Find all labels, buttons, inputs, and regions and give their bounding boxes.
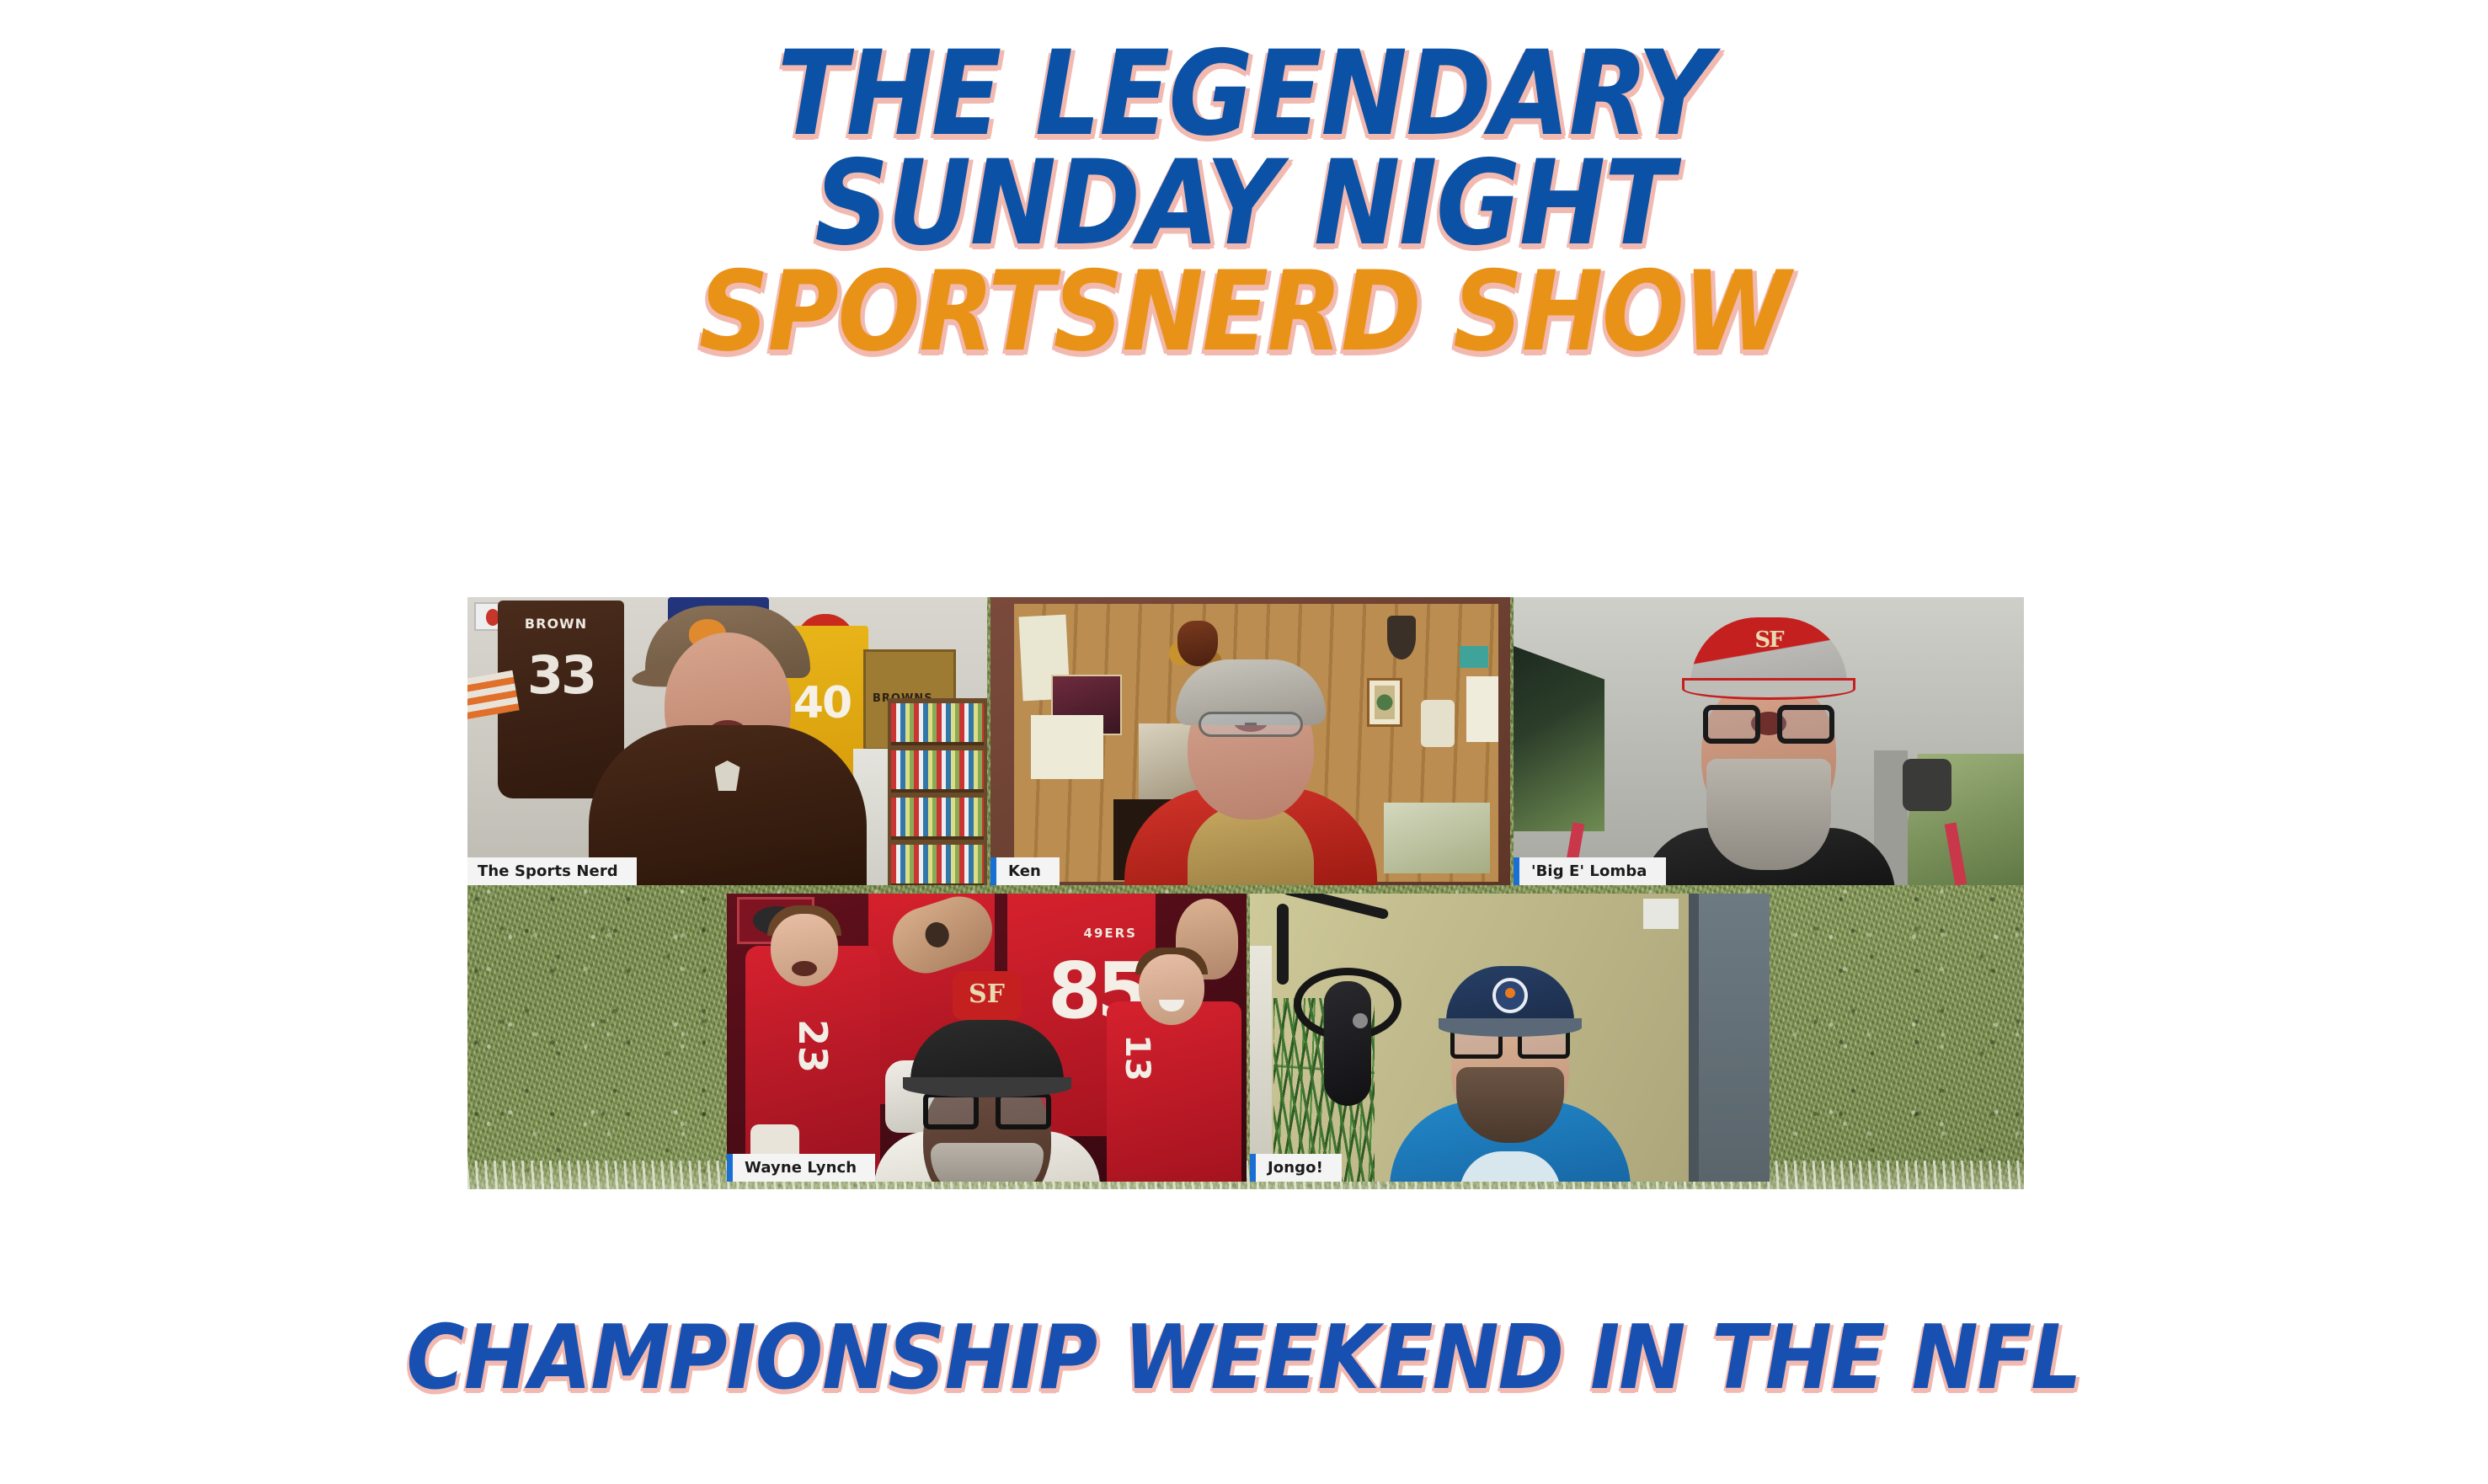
jersey-nameplate: BROWN (525, 616, 587, 632)
tile-scene (990, 597, 1510, 885)
bookshelf (888, 698, 987, 885)
participant-name-label: Jongo! (1250, 1154, 1342, 1182)
video-call-grid: BROWN (467, 597, 2024, 1189)
oilers-logo-icon (1492, 978, 1528, 1013)
speaker-accent-bar (1514, 857, 1519, 885)
episode-caption: CHAMPIONSHIP WEEKEND IN THE NFL (0, 1314, 2488, 1402)
speaker-accent-bar (990, 857, 996, 885)
participant-name: 'Big E' Lomba (1519, 862, 1666, 880)
participant-name: Ken (996, 862, 1060, 880)
title-line-2: SUNDAY NIGHT (149, 150, 2339, 258)
participant-name: The Sports Nerd (467, 862, 637, 880)
tile-scene: BROWN (467, 597, 987, 885)
eyeglasses (923, 1092, 1051, 1129)
background-player: 13 (1107, 1001, 1241, 1182)
tile-scene (1250, 894, 1770, 1182)
background-player-number: 23 (790, 1019, 836, 1073)
eyeglasses (1199, 712, 1303, 737)
show-thumbnail-page: THE LEGENDARY SUNDAY NIGHT SPORTSNERD SH… (0, 0, 2488, 1484)
title-line-1: THE LEGENDARY (149, 40, 2339, 148)
person-beard (1706, 759, 1831, 870)
participant-tile-jongo[interactable]: Jongo! (1250, 894, 1770, 1182)
wall-bell-icon (1387, 616, 1416, 659)
speaker-accent-bar (1250, 1154, 1256, 1182)
person-beard (931, 1143, 1044, 1182)
show-title: THE LEGENDARY SUNDAY NIGHT SPORTSNERD SH… (0, 40, 2488, 362)
tile-scene: 49ERS 85 23 13 (727, 894, 1247, 1182)
nfl-shield-icon (715, 761, 740, 791)
participant-name-label: Wayne Lynch (727, 1154, 875, 1182)
background-team-name: 49ERS (1084, 926, 1137, 941)
caption-text: CHAMPIONSHIP WEEKEND IN THE NFL (407, 1314, 2081, 1402)
background-player: 23 (745, 946, 880, 1172)
speaker-accent-bar (727, 1154, 733, 1182)
title-line-3: SPORTSNERD SHOW (149, 261, 2339, 363)
eyeglasses (1703, 705, 1834, 744)
participant-tile-big-e-lomba[interactable]: SF 'Big E' Lomba (1514, 597, 2024, 885)
framed-art (1367, 678, 1402, 727)
wall-vase (1177, 621, 1218, 666)
participant-name-label: The Sports Nerd (467, 857, 637, 885)
microphone-icon (1324, 981, 1371, 1106)
wall-phone-icon (1421, 700, 1455, 747)
participant-tile-wayne-lynch[interactable]: 49ERS 85 23 13 (727, 894, 1247, 1182)
participant-name-label: Ken (990, 857, 1060, 885)
participant-tile-the-sports-nerd[interactable]: BROWN (467, 597, 987, 885)
participant-tile-ken[interactable]: Ken (990, 597, 1510, 885)
tile-scene: SF (1514, 597, 2024, 885)
participant-name: Jongo! (1256, 1159, 1342, 1177)
background-player-number: 13 (1118, 1034, 1156, 1081)
participant-name-label: 'Big E' Lomba (1514, 857, 1666, 885)
participant-name: Wayne Lynch (733, 1159, 875, 1177)
